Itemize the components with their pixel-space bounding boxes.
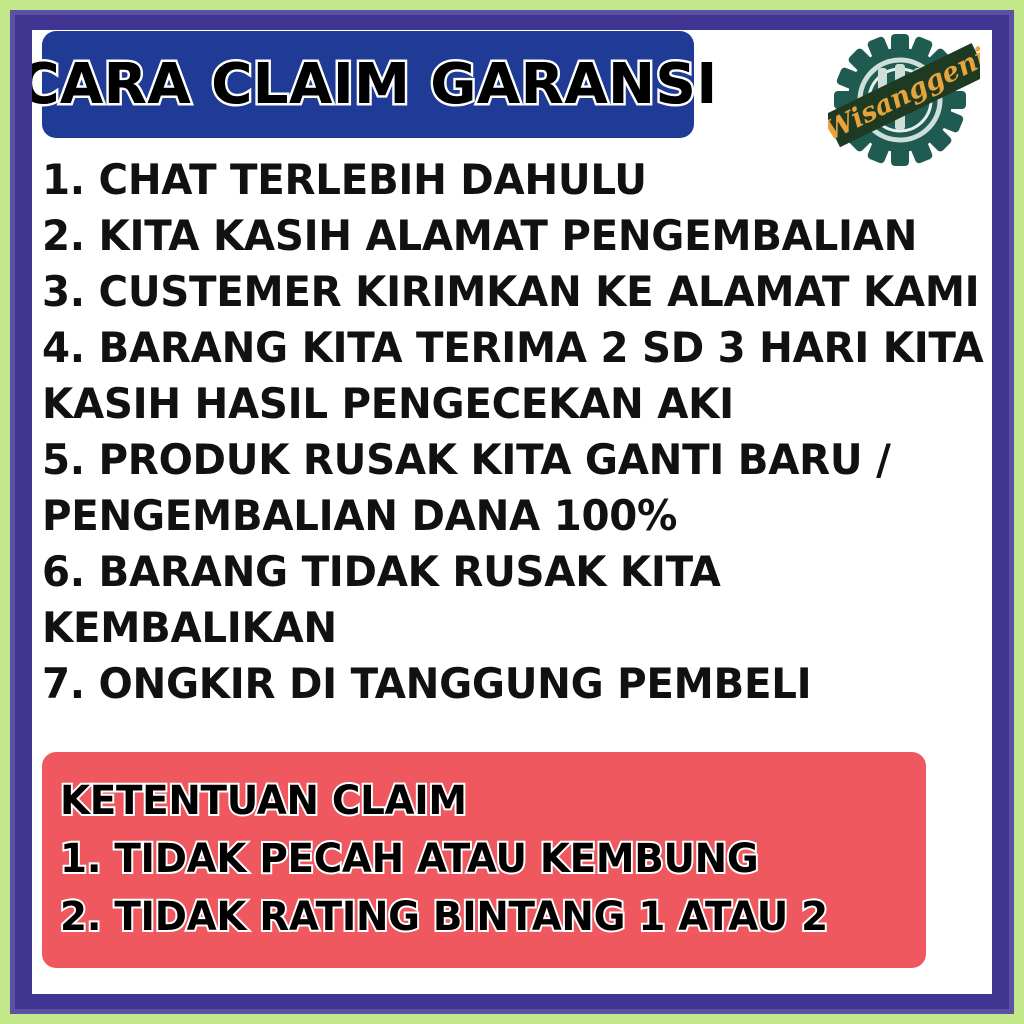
brand-logo: Wisanggeni [828,30,980,170]
claim-steps-list: 1. CHAT TERLEBIH DAHULU 2. KITA KASIH AL… [42,152,988,712]
step-line: 6. BARANG TIDAK RUSAK KITA [42,544,950,600]
poster-header: CARA CLAIM GARANSI [32,30,992,150]
step-line: 7. ONGKIR DI TANGGUNG PEMBELI [42,656,950,712]
step-line: 5. PRODUK RUSAK KITA GANTI BARU / [42,432,950,488]
poster-content-sheet: CARA CLAIM GARANSI [32,30,992,994]
gear-logo-icon: Wisanggeni [828,30,980,170]
step-line: PENGEMBALIAN DANA 100% [42,488,950,544]
title-banner: CARA CLAIM GARANSI [42,31,694,138]
warranty-claim-poster: CARA CLAIM GARANSI [0,0,1024,1024]
terms-box: KETENTUAN CLAIM 1. TIDAK PECAH ATAU KEMB… [42,752,926,968]
step-line: 4. BARANG KITA TERIMA 2 SD 3 HARI KITA [42,320,950,376]
step-line: 2. KITA KASIH ALAMAT PENGEMBALIAN [42,208,950,264]
step-line: KASIH HASIL PENGECEKAN AKI [42,376,950,432]
terms-item: 2. TIDAK RATING BINTANG 1 ATAU 2 [60,888,900,946]
page-title: CARA CLAIM GARANSI [32,57,718,113]
step-line: 1. CHAT TERLEBIH DAHULU [42,152,950,208]
terms-heading: KETENTUAN CLAIM [60,772,900,830]
terms-item: 1. TIDAK PECAH ATAU KEMBUNG [60,830,900,888]
step-line: KEMBALIKAN [42,600,950,656]
step-line: 3. CUSTEMER KIRIMKAN KE ALAMAT KAMI [42,264,950,320]
